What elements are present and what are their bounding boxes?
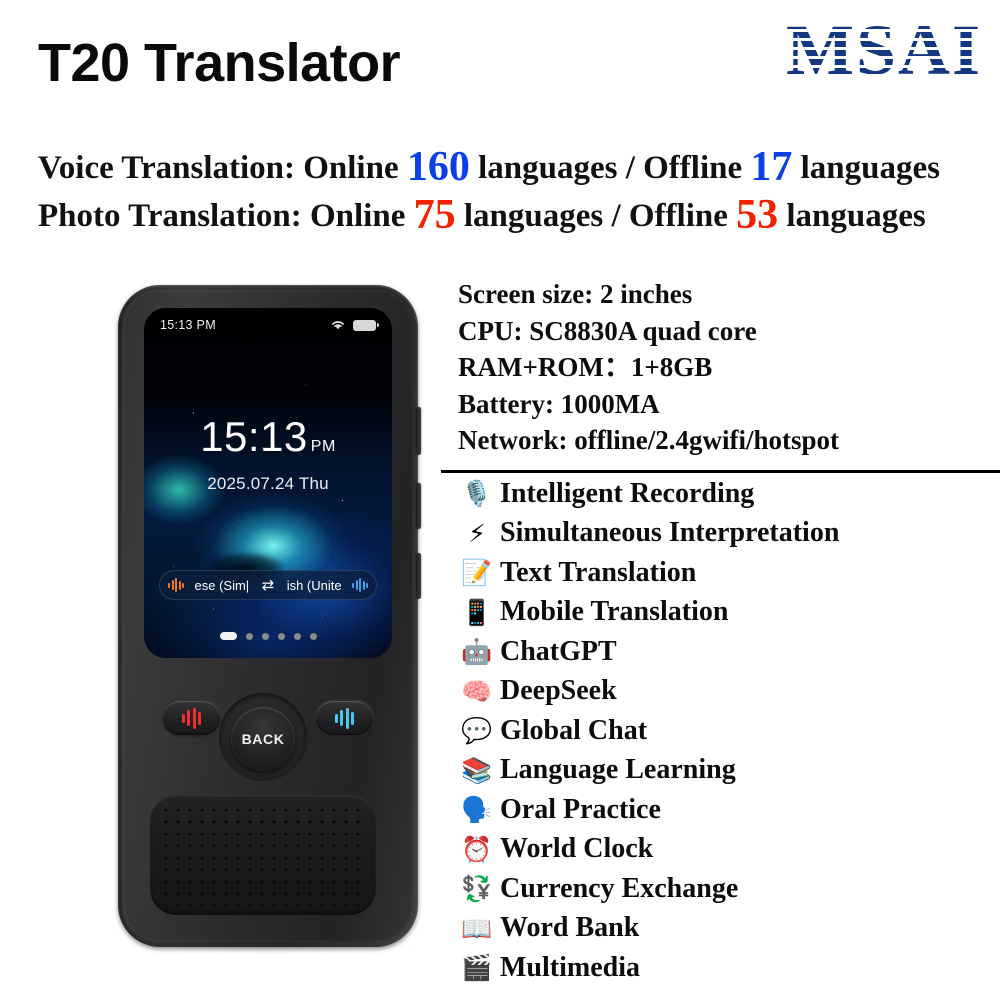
page-dot[interactable] <box>278 633 285 640</box>
currency-exchange-icon: 💱 <box>458 876 496 901</box>
clapper-board-icon: 🎬 <box>458 955 496 980</box>
voice-label-1: Voice Translation: Online <box>38 150 407 186</box>
page-indicator[interactable] <box>144 632 392 640</box>
right-record-button[interactable] <box>316 701 373 735</box>
feature-item: 🎙️Intelligent Recording <box>458 474 1000 514</box>
photo-online-count: 75 <box>414 192 456 238</box>
speech-balloon-icon: 💬 <box>458 718 496 743</box>
spec-item: Screen size: 2 inches <box>458 276 839 313</box>
photo-label-3: languages <box>778 198 926 234</box>
feature-label: ChatGPT <box>500 636 617 668</box>
page-dot[interactable] <box>262 633 269 640</box>
feature-item: 📖Word Bank <box>458 909 1000 949</box>
open-book-icon: 📖 <box>458 916 496 941</box>
page-dot[interactable] <box>246 633 253 640</box>
speaker-holes <box>160 804 366 906</box>
feature-label: Text Translation <box>500 557 696 589</box>
feature-item: 🤖ChatGPT <box>458 632 1000 672</box>
feature-item: ⚡Simultaneous Interpretation <box>458 514 1000 554</box>
brain-icon: 🧠 <box>458 679 496 704</box>
device-body: 15:13 PM 15:13PM 2025.07.24 Thu <box>118 285 418 947</box>
books-icon: 📚 <box>458 758 496 783</box>
target-language-label[interactable]: ish (Unite <box>276 578 352 593</box>
mobile-phone-icon: 📱 <box>458 600 496 625</box>
photo-label-1: Photo Translation: Online <box>38 198 414 234</box>
swap-languages-icon[interactable]: ⇄ <box>260 576 277 594</box>
clock-date: 2025.07.24 Thu <box>144 474 392 494</box>
feature-label: Global Chat <box>500 715 647 747</box>
translate-language-bar[interactable]: ese (Sim| ⇄ ish (Unite <box>159 570 377 600</box>
feature-label: Simultaneous Interpretation <box>500 517 839 549</box>
spec-item: RAM+ROM：1+8GB <box>458 349 839 386</box>
feature-item: ⏰World Clock <box>458 830 1000 870</box>
red-waveform-icon <box>182 709 202 727</box>
feature-label: DeepSeek <box>500 675 617 707</box>
section-divider <box>441 470 1000 473</box>
spec-item: Battery: 1000MA <box>458 386 839 423</box>
feature-label: Mobile Translation <box>500 596 728 628</box>
target-waveform-icon[interactable] <box>352 578 368 593</box>
feature-label: Currency Exchange <box>500 873 738 905</box>
feature-label: Oral Practice <box>500 794 661 826</box>
photo-label-2: languages / Offline <box>456 198 737 234</box>
left-record-button[interactable] <box>163 701 220 735</box>
side-button-volume-down[interactable] <box>416 483 421 529</box>
source-waveform-icon[interactable] <box>168 578 184 593</box>
voice-label-2: languages / Offline <box>470 150 751 186</box>
feature-label: Multimedia <box>500 952 640 984</box>
msai-logo-text: MSAI <box>786 10 982 90</box>
alarm-clock-icon: ⏰ <box>458 837 496 862</box>
source-language-label[interactable]: ese (Sim| <box>184 578 260 593</box>
status-bar: 15:13 PM <box>144 308 392 342</box>
feature-item: 💱Currency Exchange <box>458 869 1000 909</box>
clock-row: 15:13PM <box>144 416 392 458</box>
memo-pencil-icon: 📝 <box>458 560 496 585</box>
spec-item: Network: offline/2.4gwifi/hotspot <box>458 422 839 459</box>
product-poster: T20 Translator MSAI Voice Translation: O… <box>0 0 1000 1000</box>
wifi-icon <box>330 319 346 331</box>
feature-item: 🎬Multimedia <box>458 948 1000 988</box>
feature-item: 🗣️Oral Practice <box>458 790 1000 830</box>
device-image: 15:13 PM 15:13PM 2025.07.24 Thu <box>100 285 440 965</box>
feature-list: 🎙️Intelligent Recording ⚡Simultaneous In… <box>458 474 1000 988</box>
blue-waveform-icon <box>335 709 355 727</box>
status-time: 15:13 PM <box>160 318 216 332</box>
lightning-icon: ⚡ <box>458 521 496 546</box>
feature-item: 📚Language Learning <box>458 751 1000 791</box>
spec-list: Screen size: 2 inches CPU: SC8830A quad … <box>458 276 839 459</box>
status-icons <box>330 319 376 331</box>
voice-label-3: languages <box>792 150 940 186</box>
voice-offline-count: 17 <box>750 144 792 190</box>
feature-item: 🧠DeepSeek <box>458 672 1000 712</box>
voice-translation-line: Voice Translation: Online 160 languages … <box>38 146 940 188</box>
feature-label: World Clock <box>500 833 653 865</box>
feature-item: 📝Text Translation <box>458 553 1000 593</box>
lockscreen-clock: 15:13PM 2025.07.24 Thu <box>144 416 392 494</box>
feature-label: Word Bank <box>500 912 639 944</box>
battery-icon <box>353 320 376 331</box>
speaking-head-icon: 🗣️ <box>458 797 496 822</box>
feature-label: Language Learning <box>500 754 736 786</box>
photo-translation-line: Photo Translation: Online 75 languages /… <box>38 194 926 236</box>
msai-logo: MSAI <box>786 14 982 86</box>
spec-item: CPU: SC8830A quad core <box>458 313 839 350</box>
voice-online-count: 160 <box>407 144 470 190</box>
feature-item: 📱Mobile Translation <box>458 593 1000 633</box>
page-dot-active[interactable] <box>220 632 237 640</box>
photo-offline-count: 53 <box>736 192 778 238</box>
feature-item: 💬Global Chat <box>458 711 1000 751</box>
page-dot[interactable] <box>294 633 301 640</box>
side-button-power[interactable] <box>416 553 421 599</box>
device-screen[interactable]: 15:13 PM 15:13PM 2025.07.24 Thu <box>144 308 392 658</box>
clock-time: 15:13 <box>200 413 308 460</box>
page-title: T20 Translator <box>38 36 400 90</box>
robot-icon: 🤖 <box>458 639 496 664</box>
feature-label: Intelligent Recording <box>500 478 754 510</box>
microphone-icon: 🎙️ <box>458 481 496 506</box>
clock-ampm: PM <box>311 438 336 455</box>
side-button-volume-up[interactable] <box>416 407 421 455</box>
back-button[interactable]: BACK <box>231 707 295 771</box>
speaker-grille <box>150 795 376 915</box>
page-dot[interactable] <box>310 633 317 640</box>
